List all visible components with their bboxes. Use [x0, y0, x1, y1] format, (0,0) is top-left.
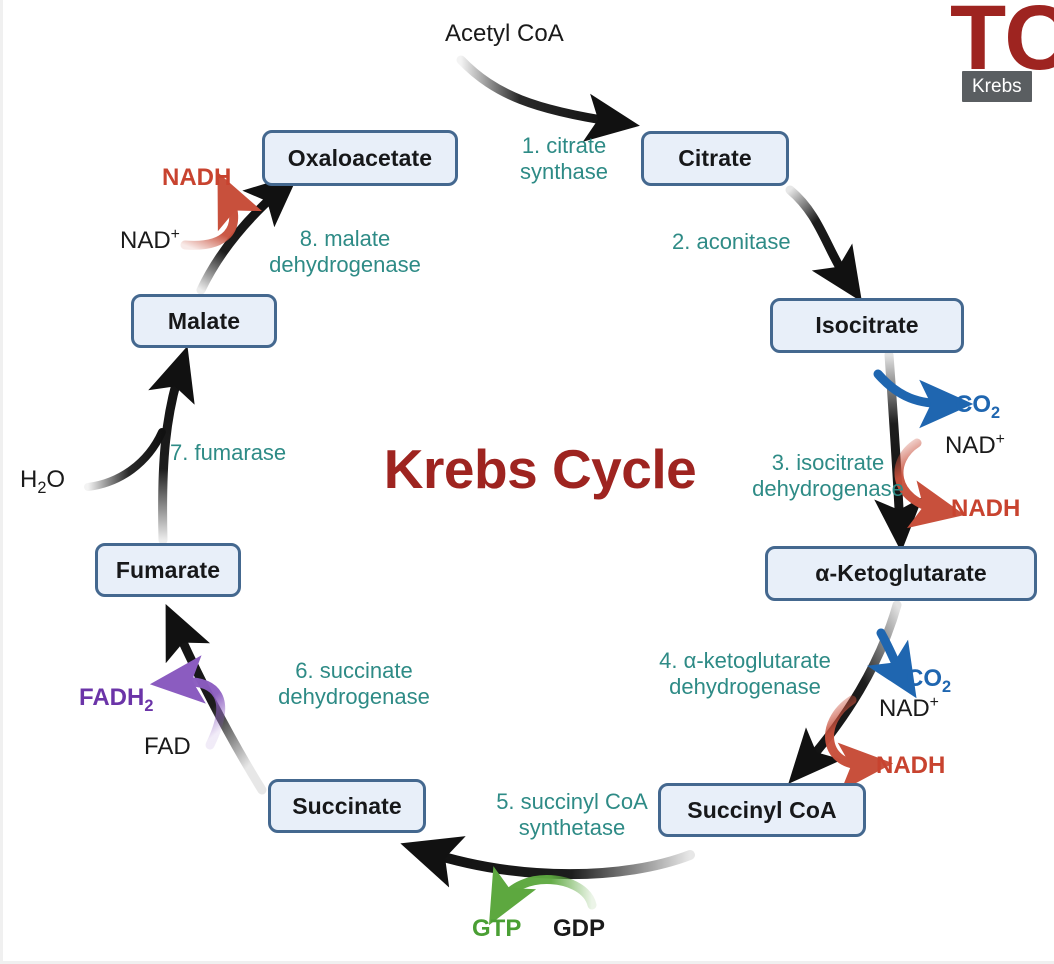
label-nadh-malate-step: NADH	[162, 164, 231, 192]
nad-superscript: +	[171, 226, 180, 243]
node-citrate[interactable]: Citrate	[641, 131, 789, 186]
arrow-h2o-input	[88, 432, 162, 487]
label-h2o: H2O	[20, 466, 65, 498]
co2-subscript: 2	[991, 404, 1000, 422]
enzyme-label-step-3: 3. isocitrate dehydrogenase	[730, 450, 926, 501]
arrow-co2-ketoglutarate	[881, 633, 903, 677]
label-acetyl-coa: Acetyl CoA	[445, 20, 564, 48]
corner-tooltip: Krebs	[962, 71, 1032, 102]
label-nadh-ketoglutarate-step: NADH	[876, 752, 945, 780]
node-oxaloacetate[interactable]: Oxaloacetate	[262, 130, 458, 186]
krebs-cycle-diagram: Oxaloacetate Citrate Isocitrate α-Ketogl…	[0, 0, 1054, 964]
co2-subscript: 2	[942, 678, 951, 696]
label-gtp: GTP	[472, 915, 521, 943]
node-succinyl-coa[interactable]: Succinyl CoA	[658, 783, 866, 837]
nad-text: NAD	[120, 227, 171, 254]
nad-superscript: +	[930, 694, 939, 711]
label-fad: FAD	[144, 733, 191, 761]
enzyme-label-step-8: 8. malate dehydrogenase	[265, 226, 425, 277]
node-succinate[interactable]: Succinate	[268, 779, 426, 833]
label-co2-isocitrate-step: CO2	[955, 391, 1000, 423]
label-nad-plus-ketoglutarate-step: NAD+	[879, 694, 939, 723]
h2o-text: H	[20, 466, 37, 493]
corner-widget[interactable]: TC Krebs	[950, 0, 1054, 120]
label-nad-plus-malate-step: NAD+	[120, 226, 180, 255]
enzyme-label-step-6: 6. succinate dehydrogenase	[246, 658, 462, 709]
arrow-nad-to-nadh-malate	[185, 195, 234, 245]
arrow-gdp-to-gtp	[501, 880, 592, 905]
node-alpha-ketoglutarate[interactable]: α-Ketoglutarate	[765, 546, 1037, 601]
enzyme-label-step-2: 2. aconitase	[672, 229, 852, 255]
node-isocitrate[interactable]: Isocitrate	[770, 298, 964, 353]
fadh2-text: FADH	[79, 684, 144, 711]
nad-text: NAD	[945, 432, 996, 459]
arrow-acetyl-coa-input	[461, 60, 615, 122]
label-gdp: GDP	[553, 915, 605, 943]
enzyme-label-step-4: 4. α-ketoglutarate dehydrogenase	[634, 648, 856, 699]
label-co2-ketoglutarate-step: CO2	[906, 665, 951, 697]
node-malate[interactable]: Malate	[131, 294, 277, 348]
h2o-tail: O	[46, 466, 65, 493]
node-fumarate[interactable]: Fumarate	[95, 543, 241, 597]
label-nadh-isocitrate-step: NADH	[951, 495, 1020, 523]
enzyme-label-step-1: 1. citrate synthase	[498, 133, 630, 184]
enzyme-label-step-7: 7. fumarase	[170, 440, 330, 466]
nad-text: NAD	[879, 695, 930, 722]
co2-text: CO	[906, 665, 942, 692]
nad-superscript: +	[996, 431, 1005, 448]
label-fadh2: FADH2	[79, 684, 153, 716]
page-title: Krebs Cycle	[352, 437, 728, 501]
enzyme-label-step-5: 5. succinyl CoA synthetase	[476, 789, 668, 840]
co2-text: CO	[955, 391, 991, 418]
label-nad-plus-isocitrate-step: NAD+	[945, 431, 1005, 460]
arrow-succinyl-coa-to-succinate	[427, 852, 690, 874]
fadh2-subscript: 2	[144, 697, 153, 715]
